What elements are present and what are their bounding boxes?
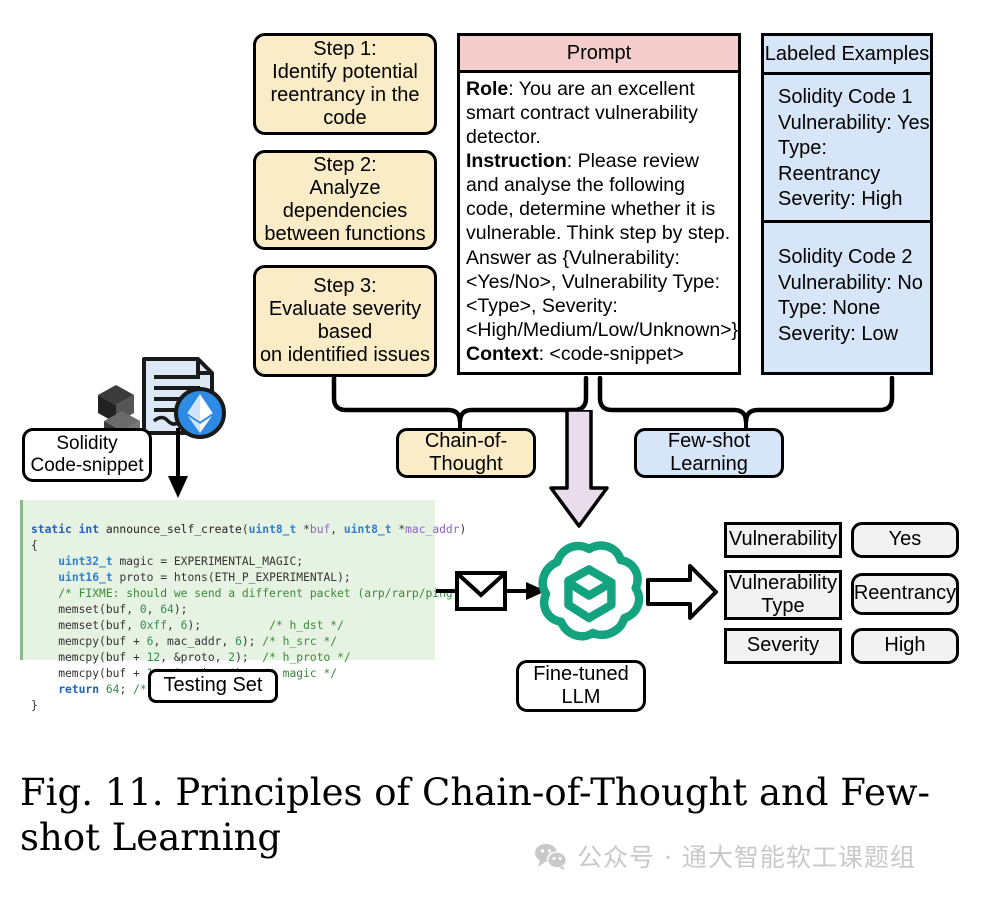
code-snippet-block: static int announce_self_create(uint8_t …	[20, 500, 435, 660]
figure-canvas: Step 1: Identify potential reentrancy in…	[0, 0, 1004, 760]
labeled-examples-panel: Labeled Examples Solidity Code 1 Vulnera…	[761, 33, 933, 375]
openai-logo-icon	[533, 534, 645, 646]
tag-solidity-code-snippet: Solidity Code-snippet	[22, 428, 152, 482]
prompt-context-text: : <code-snippet>	[539, 343, 684, 365]
step-box-3: Step 3: Evaluate severity based on ident…	[253, 265, 437, 377]
labeled-examples-title: Labeled Examples	[764, 36, 930, 75]
prompt-role-label: Role	[466, 78, 508, 100]
purple-down-arrow	[545, 410, 613, 530]
brace-few-shot	[596, 376, 896, 424]
step-box-1: Step 1: Identify potential reentrancy in…	[253, 33, 437, 135]
tag-few-shot-learning: Few-shot Learning	[634, 428, 784, 478]
prompt-instruction-label: Instruction	[466, 150, 567, 172]
step-box-2: Step 2: Analyze dependencies between fun…	[253, 150, 437, 250]
labeled-example-2: Solidity Code 2 Vulnerability: No Type: …	[764, 220, 930, 372]
tag-chain-of-thought: Chain-of- Thought	[396, 428, 536, 478]
prompt-title: Prompt	[460, 36, 738, 73]
prompt-body: Role: You are an excellent smart contrac…	[460, 73, 738, 370]
watermark: 公众号 · 通大智能软工课题组	[534, 838, 916, 874]
watermark-text: 公众号 · 通大智能软工课题组	[577, 838, 916, 874]
output-label-vulnerability-type: Vulnerability Type	[724, 570, 842, 620]
prompt-panel: Prompt Role: You are an excellent smart …	[457, 33, 741, 375]
output-value-vulnerability: Yes	[851, 522, 959, 558]
output-label-vulnerability: Vulnerability	[724, 522, 842, 558]
output-value-severity: High	[851, 628, 959, 664]
output-value-vulnerability-type: Reentrancy	[851, 573, 959, 615]
output-block-arrow	[646, 562, 718, 622]
output-label-severity: Severity	[724, 628, 842, 664]
wechat-icon	[534, 842, 568, 870]
tag-fine-tuned-llm: Fine-tuned LLM	[516, 660, 646, 712]
labeled-example-1: Solidity Code 1 Vulnerability: Yes Type:…	[764, 75, 930, 220]
tag-testing-set: Testing Set	[148, 669, 278, 703]
arrow-doc-to-code	[160, 428, 196, 500]
envelope-arrow-group	[436, 565, 548, 617]
prompt-context-label: Context	[466, 343, 539, 365]
envelope-icon	[457, 573, 505, 609]
prompt-instruction-text: : Please review and analyse the followin…	[466, 150, 738, 341]
